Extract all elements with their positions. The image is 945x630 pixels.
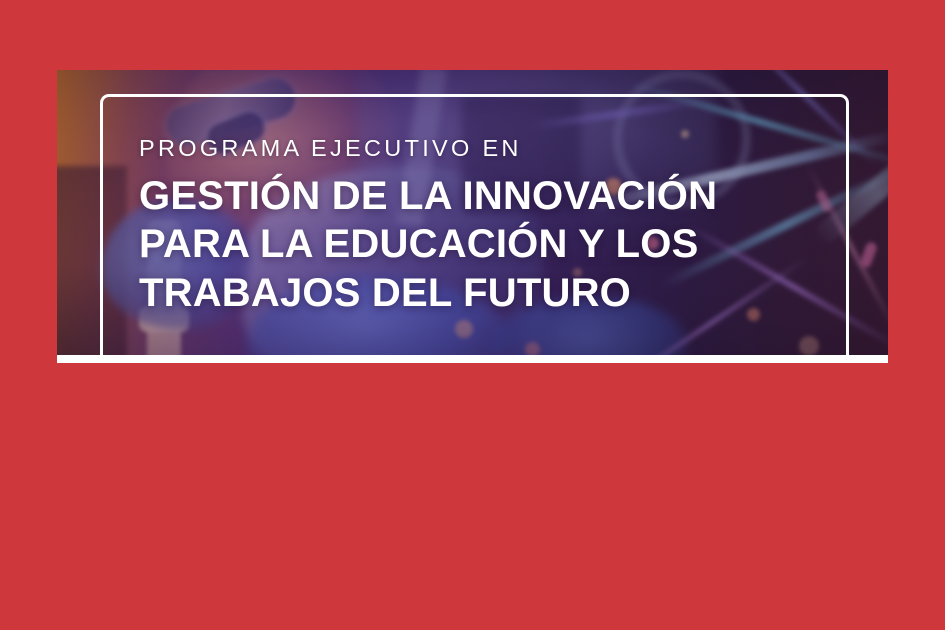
banner-bottom-bar xyxy=(57,355,888,363)
program-headline: GESTIÓN DE LA INNOVACIÓN PARA LA EDUCACI… xyxy=(139,172,839,318)
banner-text-block: PROGRAMA EJECUTIVO EN GESTIÓN DE LA INNO… xyxy=(139,137,839,318)
headline-line-1: GESTIÓN DE LA INNOVACIÓN xyxy=(139,172,839,221)
headline-line-3: TRABAJOS DEL FUTURO xyxy=(139,269,839,318)
headline-line-2: PARA LA EDUCACIÓN Y LOS xyxy=(139,220,839,269)
page-root: PROGRAMA EJECUTIVO EN GESTIÓN DE LA INNO… xyxy=(0,0,945,630)
program-banner: PROGRAMA EJECUTIVO EN GESTIÓN DE LA INNO… xyxy=(57,70,888,363)
program-eyebrow-label: PROGRAMA EJECUTIVO EN xyxy=(139,137,839,161)
